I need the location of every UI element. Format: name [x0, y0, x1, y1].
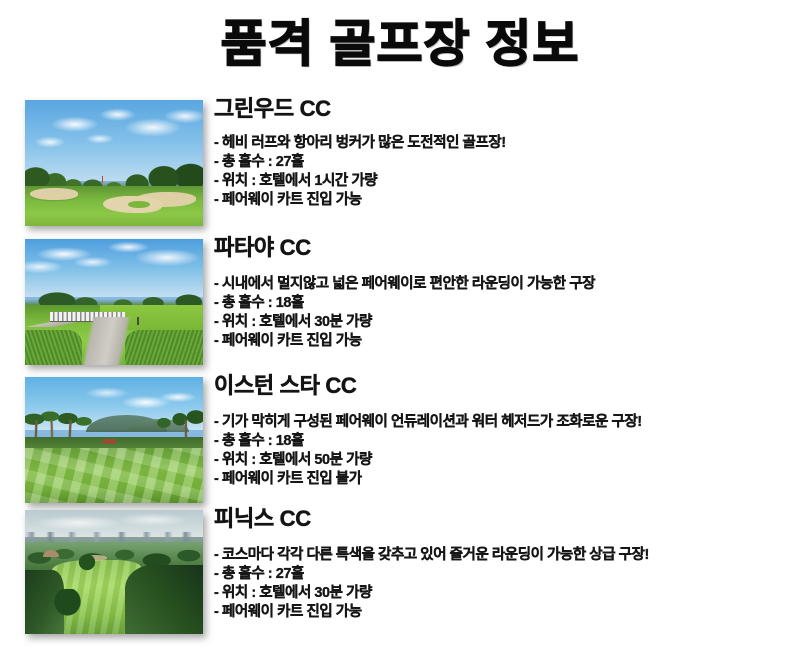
course-row: 파타야 CC - 시내에서 멀지않고 넓은 페어웨이로 편안한 라운딩이 가능한…	[0, 237, 800, 367]
course-name: 피닉스 CC	[214, 508, 794, 530]
flagstick-icon	[102, 176, 103, 184]
fairway-tree	[78, 555, 96, 571]
bullet-item: - 위치 : 호텔에서 50분 가량	[214, 451, 794, 470]
course-name: 이스턴 스타 CC	[214, 375, 794, 397]
city-skyline	[25, 532, 203, 542]
course-row: 그린우드 CC - 헤비 러프와 항아리 벙커가 많은 도전적인 골프장! - …	[0, 98, 800, 228]
course-text-column: 피닉스 CC - 코스마다 각각 다른 특색을 갖추고 있어 즐거운 라운딩이 …	[214, 508, 794, 622]
bullet-item: - 기가 막히게 구성된 페어웨이 언듀레이션과 워터 헤저드가 조화로운 구장…	[214, 413, 794, 432]
course-bullet-list: - 헤비 러프와 항아리 벙커가 많은 도전적인 골프장! - 총 홀수 : 2…	[214, 134, 794, 210]
striped-fairway-region	[25, 448, 203, 503]
course-name: 그린우드 CC	[214, 98, 794, 120]
golf-course-info-page: 품격 골프장 정보 그린우드 CC - 헤비 러프와 항아리 벙커가 많은 도전…	[0, 0, 800, 667]
bullet-item: - 페어웨이 카트 진입 가능	[214, 191, 794, 210]
course-row: 피닉스 CC - 코스마다 각각 다른 특색을 갖추고 있어 즐거운 라운딩이 …	[0, 508, 800, 636]
bullet-item: - 총 홀수 : 18홀	[214, 294, 794, 313]
course-text-column: 이스턴 스타 CC - 기가 막히게 구성된 페어웨이 언듀레이션과 워터 헤저…	[214, 375, 794, 489]
cart-path	[39, 317, 203, 365]
course-row: 이스턴 스타 CC - 기가 막히게 구성된 페어웨이 언듀레이션과 워터 헤저…	[0, 375, 800, 505]
bullet-item: - 총 홀수 : 18홀	[214, 432, 794, 451]
photo-canvas	[25, 239, 203, 365]
bullet-item: - 위치 : 호텔에서 1시간 가량	[214, 172, 794, 191]
bullet-item: - 위치 : 호텔에서 30분 가량	[214, 313, 794, 332]
photo-canvas	[25, 377, 203, 503]
clubhouse-roof	[103, 439, 115, 444]
course-bullet-list: - 시내에서 멀지않고 넓은 페어웨이로 편안한 라운딩이 가능한 구장 - 총…	[214, 275, 794, 351]
bullet-item: - 총 홀수 : 27홀	[214, 153, 794, 172]
photo-canvas	[25, 510, 203, 634]
course-name: 파타야 CC	[214, 237, 794, 259]
bullet-item: - 총 홀수 : 27홀	[214, 565, 794, 584]
photo-canvas	[25, 100, 203, 226]
course-text-column: 파타야 CC - 시내에서 멀지않고 넓은 페어웨이로 편안한 라운딩이 가능한…	[214, 237, 794, 351]
bullet-item: - 헤비 러프와 항아리 벙커가 많은 도전적인 골프장!	[214, 134, 794, 153]
course-text-column: 그린우드 CC - 헤비 러프와 항아리 벙커가 많은 도전적인 골프장! - …	[214, 98, 794, 210]
course-bullet-list: - 기가 막히게 구성된 페어웨이 언듀레이션과 워터 헤저드가 조화로운 구장…	[214, 413, 794, 489]
page-title: 품격 골프장 정보	[0, 4, 800, 76]
foreground-tree	[53, 589, 81, 616]
course-photo-greenwood	[25, 100, 203, 226]
course-photo-eastern-star	[25, 377, 203, 503]
tree-shadow-right	[125, 565, 203, 634]
bullet-item: - 페어웨이 카트 진입 가능	[214, 332, 794, 351]
bullet-item: - 페어웨이 카트 진입 불가	[214, 470, 794, 489]
building-roof	[43, 550, 59, 557]
bullet-item: - 위치 : 호텔에서 30분 가량	[214, 584, 794, 603]
bullet-item: - 페어웨이 카트 진입 가능	[214, 603, 794, 622]
course-bullet-list: - 코스마다 각각 다른 특색을 갖추고 있어 즐거운 라운딩이 가능한 상급 …	[214, 546, 794, 622]
course-photo-phoenix	[25, 510, 203, 634]
bullet-item: - 시내에서 멀지않고 넓은 페어웨이로 편안한 라운딩이 가능한 구장	[214, 275, 794, 294]
course-photo-pattaya	[25, 239, 203, 365]
bunker-island-grass	[128, 201, 149, 209]
sand-bunker	[30, 188, 78, 199]
bullet-item: - 코스마다 각각 다른 특색을 갖추고 있어 즐거운 라운딩이 가능한 상급 …	[214, 546, 794, 565]
